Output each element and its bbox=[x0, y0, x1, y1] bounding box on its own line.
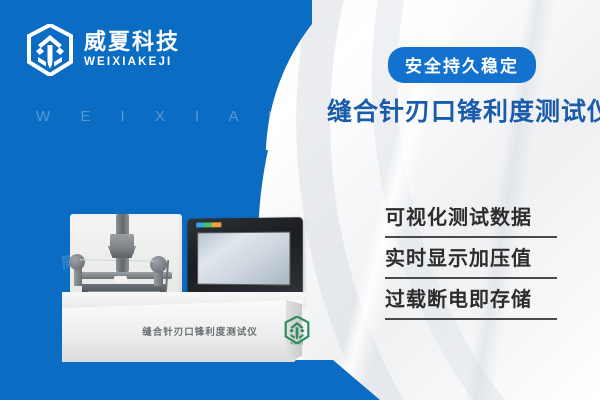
feature-label: 可视化测试数据 bbox=[385, 205, 577, 230]
brand-logo: 威夏科技 WEIXIAKEJI bbox=[26, 24, 180, 76]
brand-name-cn: 威夏科技 bbox=[84, 31, 180, 54]
product-machine-image: 缝合针刃口锋利度测试仪 威夏科技 bbox=[62, 208, 314, 363]
page-title: 缝合针刃口锋利度测试仪 bbox=[327, 92, 600, 128]
status-led-strip bbox=[196, 222, 221, 227]
brand-logo-text: 威夏科技 WEIXIAKEJI bbox=[84, 31, 180, 69]
feature-list: 可视化测试数据 实时显示加压值 过载断电即存储 bbox=[385, 205, 577, 328]
product-banner: W E I X I A K 威夏科技 威夏科技 威夏科技 WEIXIAKEJI … bbox=[0, 0, 600, 400]
fixture-specimen-block bbox=[114, 276, 127, 283]
brand-name-en: WEIXIAKEJI bbox=[84, 57, 180, 69]
fixture-wheel-right bbox=[150, 256, 167, 273]
feature-item: 实时显示加压值 bbox=[385, 246, 577, 279]
hmi-touchscreen[interactable] bbox=[188, 217, 303, 297]
watermark-text-primary: W E I X I A K bbox=[36, 108, 291, 125]
fixture-load-head-tip bbox=[108, 246, 136, 258]
machine-front-label: 缝合针刃口锋利度测试仪 bbox=[120, 324, 280, 338]
fixture-wheel-left bbox=[69, 254, 85, 270]
hmi-screen-display[interactable] bbox=[197, 232, 290, 286]
feature-divider bbox=[385, 318, 557, 320]
headline-badge: 安全持久稳定 bbox=[388, 47, 536, 83]
feature-divider bbox=[385, 236, 557, 238]
feature-label: 实时显示加压值 bbox=[385, 246, 577, 271]
feature-item: 过载断电即存储 bbox=[385, 287, 577, 320]
feature-item: 可视化测试数据 bbox=[385, 205, 577, 238]
hexagon-shield-logo-icon bbox=[26, 24, 74, 76]
green-hexagon-logo-icon bbox=[284, 316, 310, 344]
feature-divider bbox=[385, 277, 557, 279]
feature-label: 过载断电即存储 bbox=[385, 287, 577, 312]
machine-logo-caption: 威夏科技 bbox=[278, 341, 316, 345]
